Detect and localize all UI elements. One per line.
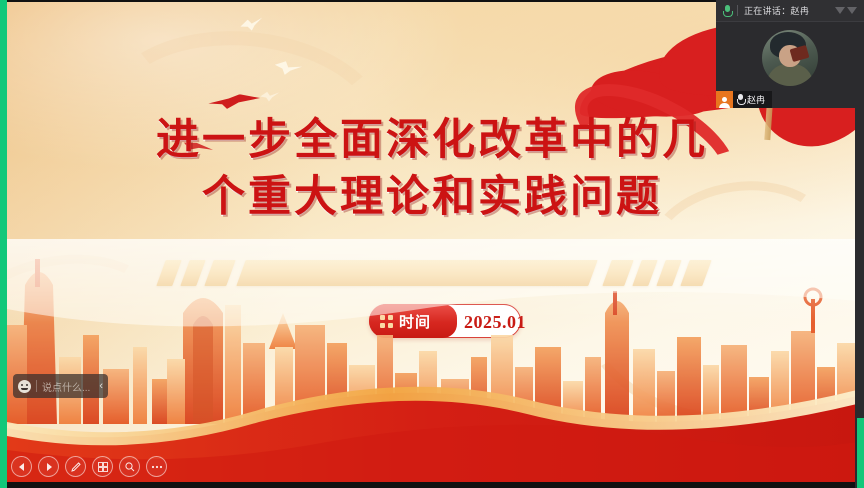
video-panel[interactable]: 正在讲话：赵冉 赵冉 bbox=[716, 0, 864, 108]
divider bbox=[36, 380, 37, 392]
page-title-line-2: 个重大理论和实践问题 bbox=[7, 169, 857, 226]
collapse-chat-icon[interactable]: ‹ bbox=[96, 380, 103, 392]
page-title-line-1: 进一步全面深化改革中的几 bbox=[156, 115, 708, 165]
screen-share-border bbox=[0, 0, 7, 488]
avatar bbox=[762, 30, 818, 86]
collapse-panel-icon[interactable] bbox=[835, 7, 857, 14]
zoom-search-button[interactable] bbox=[119, 456, 140, 477]
next-slide-button[interactable] bbox=[38, 456, 59, 477]
chat-input-placeholder[interactable]: 说点什么... bbox=[42, 379, 91, 394]
divider bbox=[737, 5, 738, 16]
more-options-button[interactable] bbox=[146, 456, 167, 477]
video-panel-header: 正在讲话：赵冉 bbox=[716, 0, 864, 22]
slide-thumbnails-button[interactable] bbox=[92, 456, 113, 477]
screen: 进一步全面深化改革中的几 个重大理论和实践问题 时间 2025.01 bbox=[0, 0, 864, 488]
participant-name-badge: 赵冉 bbox=[716, 91, 772, 108]
participant-icon bbox=[716, 91, 733, 108]
dove-icon bbox=[260, 91, 280, 103]
pen-annotate-button[interactable] bbox=[65, 456, 86, 477]
video-tile[interactable]: 赵冉 bbox=[716, 22, 864, 108]
microphone-icon bbox=[723, 5, 731, 17]
chat-input-bar[interactable]: 说点什么... ‹ bbox=[13, 374, 108, 398]
screen-share-border bbox=[857, 418, 864, 488]
emoji-icon[interactable] bbox=[18, 380, 31, 393]
speaking-status-label: 正在讲话：赵冉 bbox=[744, 4, 809, 17]
participant-name: 赵冉 bbox=[747, 93, 765, 106]
slide-toolbar bbox=[11, 456, 167, 477]
microphone-icon bbox=[737, 94, 744, 105]
previous-slide-button[interactable] bbox=[11, 456, 32, 477]
page-title: 进一步全面深化改革中的几 个重大理论和实践问题 bbox=[7, 112, 857, 226]
